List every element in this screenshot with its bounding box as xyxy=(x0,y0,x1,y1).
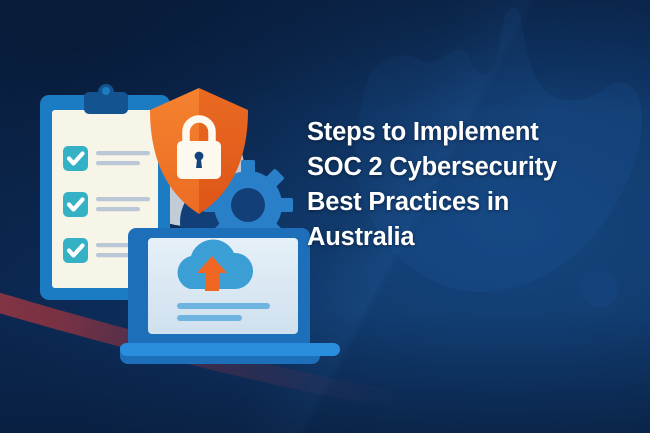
page-title: Steps to Implement SOC 2 Cybersecurity B… xyxy=(307,115,627,255)
headline-line-3: Best Practices in xyxy=(307,185,627,220)
headline-line-4: Australia xyxy=(307,220,627,255)
hero-illustration xyxy=(0,0,340,433)
headline-line-2: SOC 2 Cybersecurity xyxy=(307,150,627,185)
headline-line-1: Steps to Implement xyxy=(307,115,627,150)
banner-root: Steps to Implement SOC 2 Cybersecurity B… xyxy=(0,0,650,433)
